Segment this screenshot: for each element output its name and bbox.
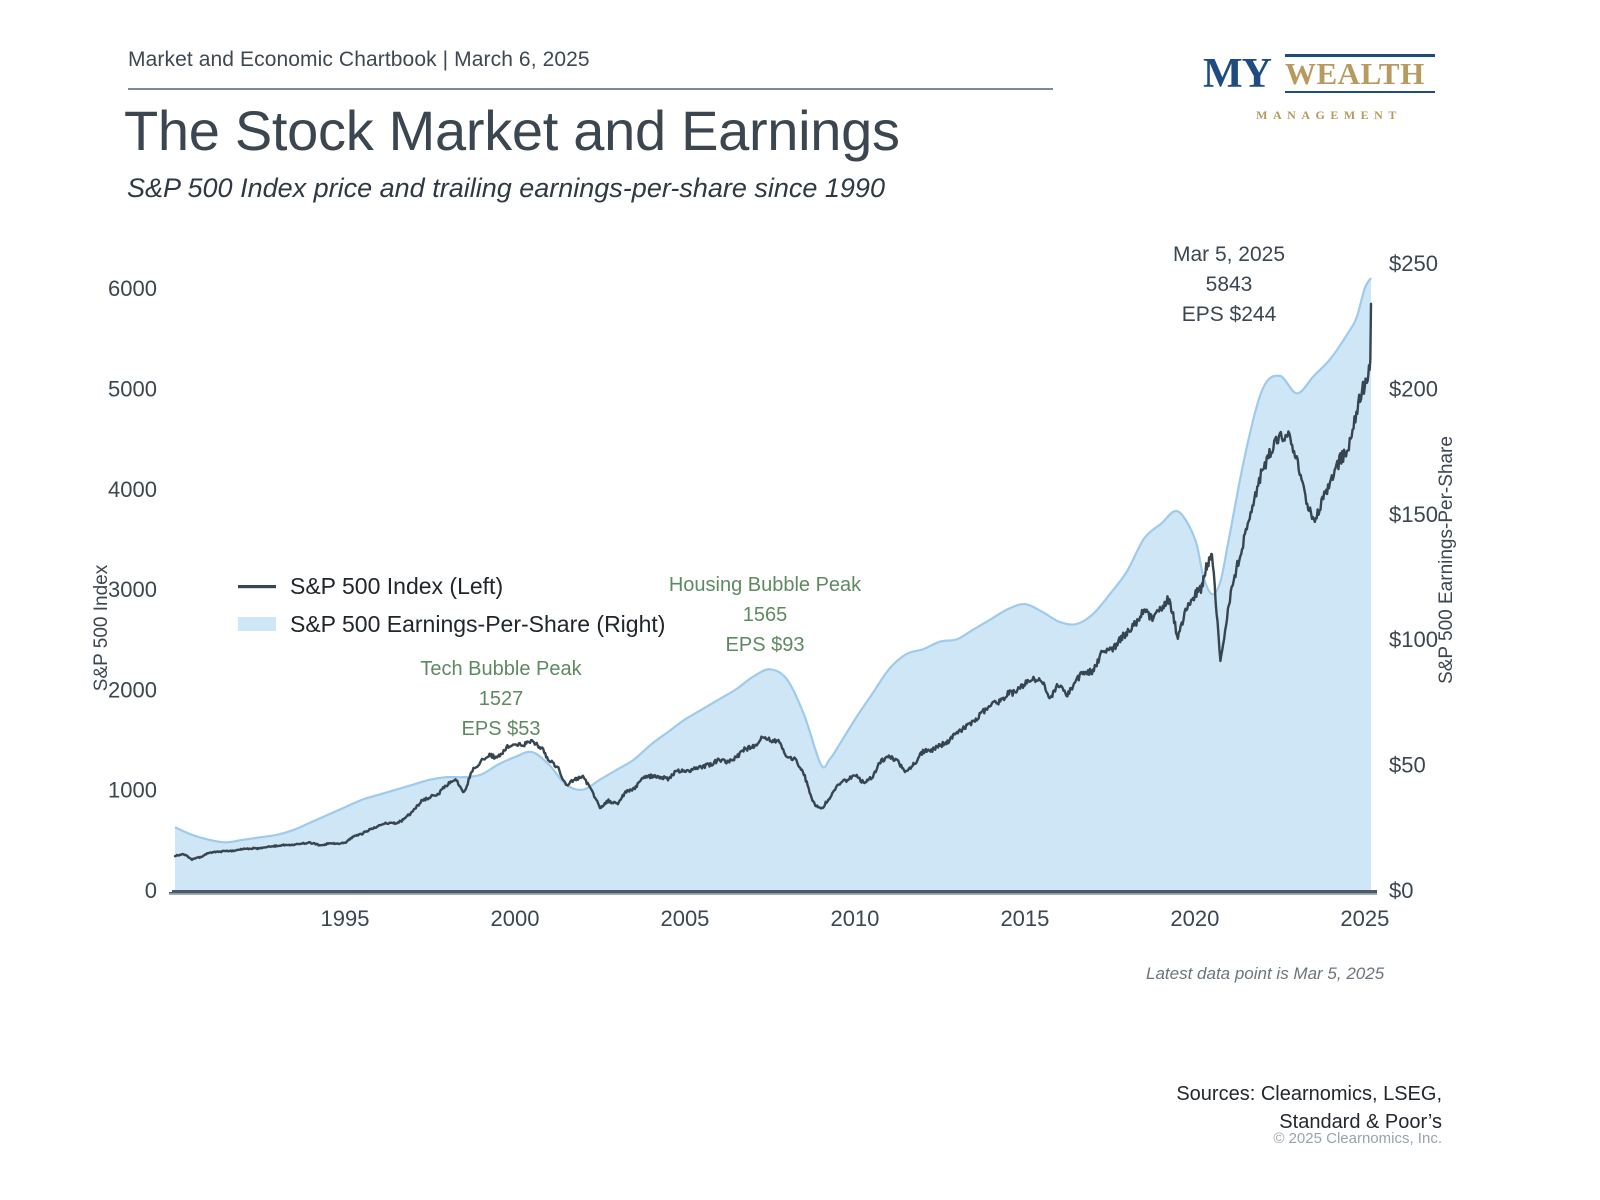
x-tick-2005: 2005	[660, 906, 709, 931]
x-tick-2025: 2025	[1340, 906, 1389, 931]
annotation-housing-bubble-line0: Housing Bubble Peak	[669, 574, 862, 596]
annotation-latest-line0: Mar 5, 2025	[1173, 243, 1285, 266]
y-tick-left-4000: 4000	[108, 477, 157, 502]
copyright-note: © 2025 Clearnomics, Inc.	[1273, 1130, 1442, 1147]
y-tick-left-6000: 6000	[108, 276, 157, 301]
x-tick-2010: 2010	[830, 906, 879, 931]
annotation-housing-bubble-line2: EPS $93	[726, 634, 805, 656]
y-tick-left-3000: 3000	[108, 577, 157, 602]
legend-label-1: S&P 500 Earnings-Per-Share (Right)	[290, 611, 665, 637]
legend-label-0: S&P 500 Index (Left)	[290, 573, 503, 599]
y-tick-left-2000: 2000	[108, 677, 157, 702]
logo-wealth-block: WEALTH	[1285, 54, 1435, 93]
brand-logo: MY WEALTH MANAGEMENT	[1203, 52, 1435, 124]
y-tick-right-50: $50	[1389, 753, 1426, 778]
annotation-tech-bubble-line0: Tech Bubble Peak	[420, 658, 582, 680]
x-tick-2015: 2015	[1000, 906, 1049, 931]
chartbook-kicker: Market and Economic Chartbook | March 6,…	[128, 48, 590, 72]
annotation-tech-bubble-line2: EPS $53	[462, 718, 541, 740]
logo-my-text: MY	[1203, 50, 1271, 98]
logo-rule-bottom	[1285, 91, 1435, 93]
logo-wealth-text: WEALTH	[1285, 57, 1435, 91]
header-divider	[128, 88, 1053, 90]
x-axis-baseline	[169, 890, 1377, 893]
annotation-housing-bubble-line1: 1565	[743, 604, 788, 626]
legend-swatch-0	[238, 585, 276, 588]
page-subtitle: S&P 500 Index price and trailing earning…	[127, 173, 885, 204]
logo-wordmark-row: MY WEALTH	[1203, 52, 1435, 94]
page-title: The Stock Market and Earnings	[124, 98, 900, 163]
y-axis-title-left: S&P 500 Index	[91, 564, 112, 691]
x-tick-1995: 1995	[321, 906, 370, 931]
chartbook-slide: Market and Economic Chartbook | March 6,…	[0, 0, 1600, 1200]
y-tick-left-5000: 5000	[108, 376, 157, 401]
y-tick-right-100: $100	[1389, 627, 1438, 652]
x-axis-baseline-shadow	[169, 893, 1377, 895]
legend-swatch-1	[238, 617, 276, 631]
x-tick-2020: 2020	[1170, 906, 1219, 931]
y-tick-left-0: 0	[145, 878, 157, 903]
stock-earnings-chart: 0100020003000400050006000$0$50$100$150$2…	[0, 228, 1600, 948]
y-tick-right-250: $250	[1389, 251, 1438, 276]
y-tick-right-0: $0	[1389, 878, 1413, 903]
annotation-latest-line2: EPS $244	[1182, 303, 1277, 326]
y-axis-title-right: S&P 500 Earnings-Per-Share	[1436, 436, 1457, 684]
chart-container: 0100020003000400050006000$0$50$100$150$2…	[0, 228, 1600, 948]
logo-management-text: MANAGEMENT	[1223, 108, 1435, 123]
latest-data-note: Latest data point is Mar 5, 2025	[1146, 964, 1384, 984]
annotation-tech-bubble-line1: 1527	[479, 688, 524, 710]
annotation-latest-line1: 5843	[1206, 273, 1253, 296]
y-tick-right-200: $200	[1389, 376, 1438, 401]
sources-note: Sources: Clearnomics, LSEG, Standard & P…	[1176, 1080, 1442, 1136]
y-tick-left-1000: 1000	[108, 778, 157, 803]
y-axis-left-spine	[169, 246, 172, 892]
y-tick-right-150: $150	[1389, 502, 1438, 527]
chart-legend: S&P 500 Index (Left)S&P 500 Earnings-Per…	[238, 573, 665, 637]
x-tick-2000: 2000	[490, 906, 539, 931]
